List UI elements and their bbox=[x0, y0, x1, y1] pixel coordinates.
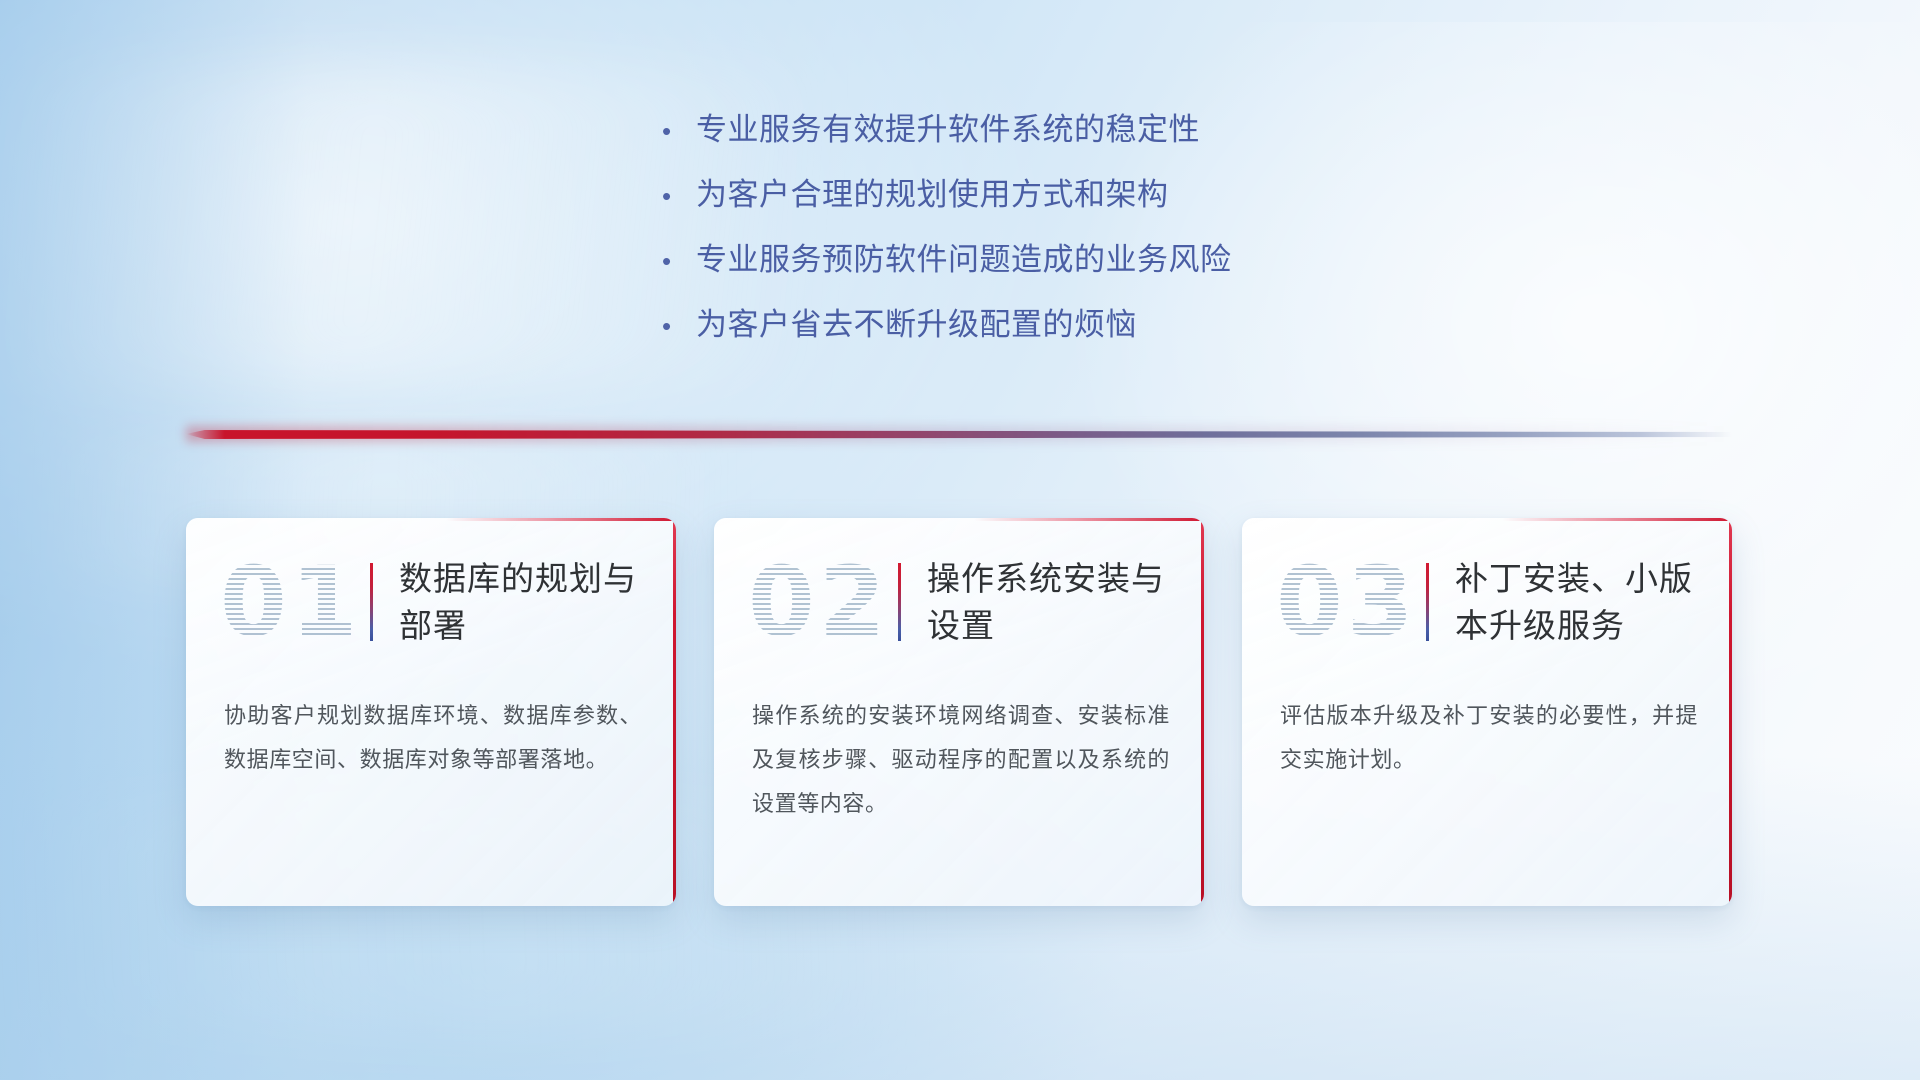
bullet-dot-icon: • bbox=[662, 118, 696, 144]
bullet-item: • 为客户合理的规划使用方式和架构 bbox=[662, 169, 1232, 234]
card-divider-bar bbox=[1426, 563, 1429, 641]
card-title: 操作系统安装与设置 bbox=[927, 555, 1204, 649]
card-number: 03 bbox=[1276, 543, 1426, 661]
bullet-dot-icon: • bbox=[662, 313, 696, 339]
card-divider-bar bbox=[898, 563, 901, 641]
bullet-dot-icon: • bbox=[662, 248, 696, 274]
card-accent-top bbox=[974, 518, 1204, 521]
bullet-item-text: 专业服务有效提升软件系统的稳定性 bbox=[696, 104, 1200, 149]
card-number: 02 bbox=[748, 543, 898, 661]
card-body-text: 协助客户规划数据库环境、数据库参数、数据库空间、数据库对象等部署落地。 bbox=[224, 694, 642, 782]
card-header: 03 补丁安装、小版本升级服务 bbox=[1242, 542, 1732, 662]
bullet-item-text: 专业服务预防软件问题造成的业务风险 bbox=[696, 234, 1232, 279]
card-body-text: 操作系统的安装环境网络调查、安装标准及复核步骤、驱动程序的配置以及系统的设置等内… bbox=[752, 694, 1170, 826]
card-title: 补丁安装、小版本升级服务 bbox=[1455, 555, 1732, 649]
card-body-text: 评估版本升级及补丁安装的必要性，并提交实施计划。 bbox=[1280, 694, 1698, 782]
service-card-row: 01 数据库的规划与部署 协助客户规划数据库环境、数据库参数、数据库空间、数据库… bbox=[186, 518, 1732, 928]
service-card-03[interactable]: 03 补丁安装、小版本升级服务 评估版本升级及补丁安装的必要性，并提交实施计划。 bbox=[1242, 518, 1732, 906]
card-header: 02 操作系统安装与设置 bbox=[714, 542, 1204, 662]
benefits-bullet-list: • 专业服务有效提升软件系统的稳定性 • 为客户合理的规划使用方式和架构 • 专… bbox=[662, 104, 1232, 364]
service-card-01[interactable]: 01 数据库的规划与部署 协助客户规划数据库环境、数据库参数、数据库空间、数据库… bbox=[186, 518, 676, 906]
card-number: 01 bbox=[220, 543, 370, 661]
bullet-item: • 专业服务预防软件问题造成的业务风险 bbox=[662, 234, 1232, 299]
bullet-item-text: 为客户省去不断升级配置的烦恼 bbox=[696, 299, 1137, 344]
bullet-item: • 专业服务有效提升软件系统的稳定性 bbox=[662, 104, 1232, 169]
section-divider bbox=[186, 424, 1732, 446]
service-card-02[interactable]: 02 操作系统安装与设置 操作系统的安装环境网络调查、安装标准及复核步骤、驱动程… bbox=[714, 518, 1204, 906]
card-accent-top bbox=[446, 518, 676, 521]
bullet-item: • 为客户省去不断升级配置的烦恼 bbox=[662, 299, 1232, 364]
card-header: 01 数据库的规划与部署 bbox=[186, 542, 676, 662]
card-accent-top bbox=[1502, 518, 1732, 521]
card-divider-bar bbox=[370, 563, 373, 641]
bullet-dot-icon: • bbox=[662, 183, 696, 209]
bullet-item-text: 为客户合理的规划使用方式和架构 bbox=[696, 169, 1169, 214]
card-title: 数据库的规划与部署 bbox=[399, 555, 676, 649]
